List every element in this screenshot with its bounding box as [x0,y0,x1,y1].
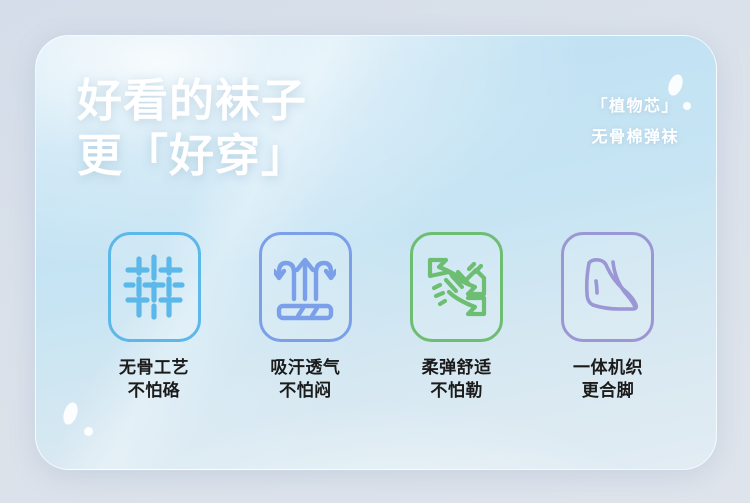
feature-label-breathable-line-2: 不怕闷 [270,379,340,402]
foot-shape-icon [575,255,641,319]
feature-icon-box-stretch [410,232,503,342]
feature-label-seamless: 无骨工艺 不怕硌 [119,356,189,403]
subcopy-line-2: 无骨棉弹袜 [591,122,679,153]
breathable-airflow-icon [274,253,336,321]
feature-label-knit-line-2: 更合脚 [573,379,643,402]
feature-label-knit: 一体机织 更合脚 [573,356,643,403]
feature-item-stretch[interactable]: 柔弹舒适 不怕勒 [387,232,527,403]
stretch-arrows-icon [424,254,490,320]
feature-label-breathable-line-1: 吸汗透气 [270,356,340,379]
bubble-decoration-bottom-left-large [61,401,80,427]
headline-line-2: 更「好穿」 [77,129,307,184]
feature-label-seamless-line-1: 无骨工艺 [119,356,189,379]
feature-label-knit-line-1: 一体机织 [573,356,643,379]
feature-item-seamless[interactable]: 无骨工艺 不怕硌 [84,232,224,403]
feature-list: 无骨工艺 不怕硌 [84,232,678,403]
glass-card: 好看的袜子 更「好穿」 「植物芯」 无骨棉弹袜 [35,35,717,470]
headline-line-1: 好看的袜子 [77,74,307,129]
feature-label-stretch: 柔弹舒适 不怕勒 [422,356,492,403]
feature-label-stretch-line-1: 柔弹舒适 [422,356,492,379]
bubble-decoration-bottom-left-small [84,427,93,436]
feature-label-stretch-line-2: 不怕勒 [422,379,492,402]
poster-root: 好看的袜子 更「好穿」 「植物芯」 无骨棉弹袜 [0,0,750,503]
feature-label-breathable: 吸汗透气 不怕闷 [270,356,340,403]
feature-icon-box-seamless [108,232,201,342]
subcopy-line-1: 「植物芯」 [591,91,679,122]
feature-item-knit[interactable]: 一体机织 更合脚 [538,232,678,403]
feature-item-breathable[interactable]: 吸汗透气 不怕闷 [235,232,375,403]
subcopy: 「植物芯」 无骨棉弹袜 [591,91,679,153]
feature-icon-box-breathable [259,232,352,342]
weave-lattice-icon [123,254,185,320]
bubble-decoration-top-right-small [683,102,691,110]
headline: 好看的袜子 更「好穿」 [77,74,307,184]
feature-icon-box-knit [561,232,654,342]
feature-label-seamless-line-2: 不怕硌 [119,379,189,402]
